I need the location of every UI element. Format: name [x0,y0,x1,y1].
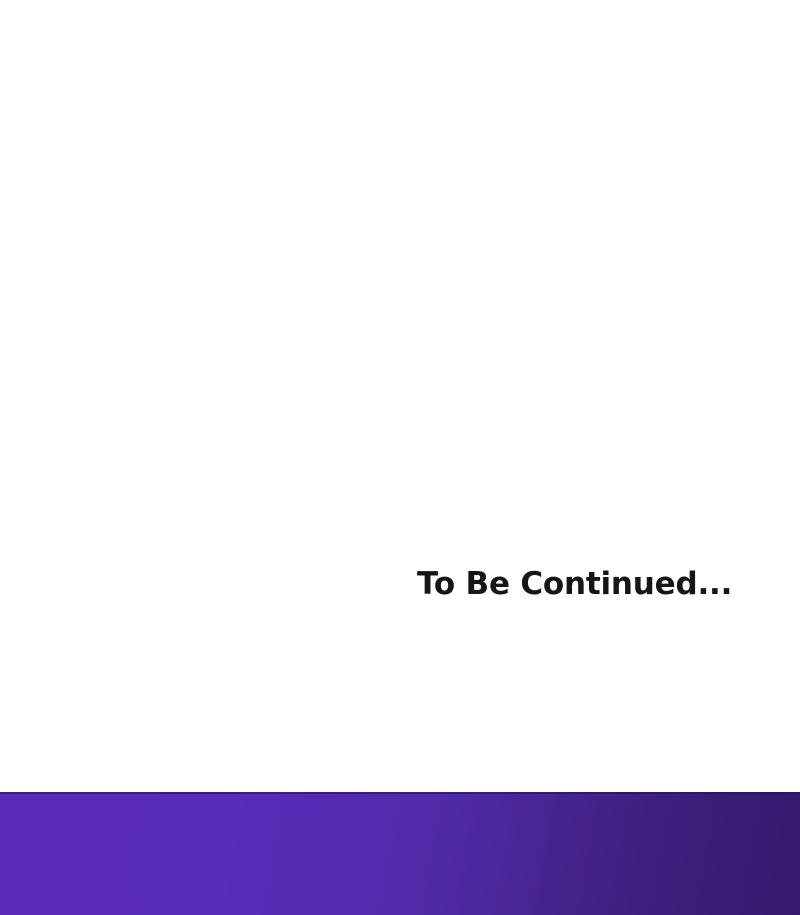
comic-page-canvas: To Be Continued... [0,0,800,792]
promotional-banner[interactable]: TOON .net Commission Your Favorite Serie… [0,792,800,915]
to-be-continued-caption: To Be Continued... [417,566,732,602]
